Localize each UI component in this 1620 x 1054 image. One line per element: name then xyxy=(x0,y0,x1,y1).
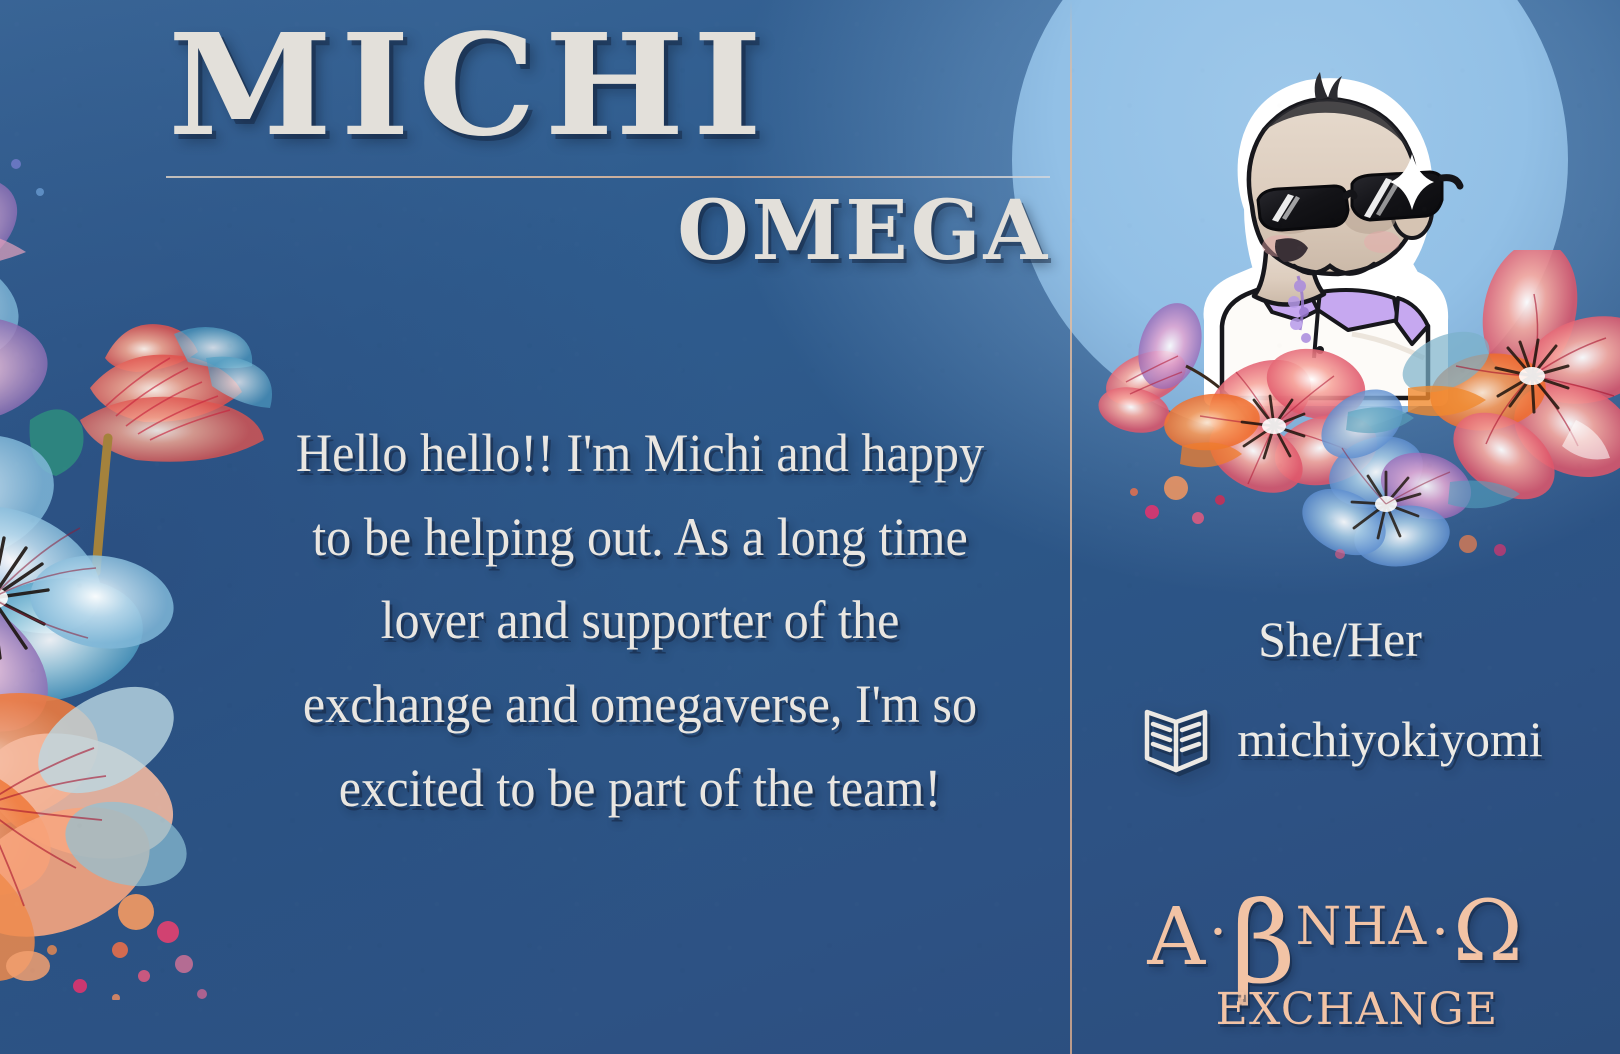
bio-text: Hello hello!! I'm Michi and happy to be … xyxy=(242,415,1038,833)
bio-line: excited to be part of the team! xyxy=(242,750,1038,827)
logo-omega: Ω xyxy=(1453,889,1523,973)
sloth-avatar xyxy=(1112,58,1464,398)
title-divider xyxy=(166,176,1050,178)
open-book-icon xyxy=(1137,700,1215,778)
bio-line: exchange and omegaverse, I'm so xyxy=(242,666,1038,743)
bio-line: Hello hello!! I'm Michi and happy xyxy=(242,415,1038,492)
bio-line: lover and supporter of the xyxy=(242,582,1038,659)
member-card: MICHI OMEGA Hello hello!! I'm Michi and … xyxy=(0,0,1620,1054)
logo-exchange-label: EXCHANGE xyxy=(1100,984,1570,1035)
role-subtitle: OMEGA xyxy=(168,190,1050,272)
logo-row: A · β NHA · Ω xyxy=(1100,892,1570,982)
pronouns-label: She/Her xyxy=(1080,610,1600,668)
column-divider xyxy=(1070,0,1072,1054)
logo-dot-left: · xyxy=(1209,905,1227,961)
handle-row[interactable]: michiyokiyomi xyxy=(1080,700,1600,778)
handle-label: michiyokiyomi xyxy=(1237,710,1543,768)
bio-line: to be helping out. As a long time xyxy=(242,499,1038,576)
logo-beta: β xyxy=(1231,900,1296,990)
logo-nha: NHA xyxy=(1296,901,1428,953)
logo-alpha: A xyxy=(1147,897,1205,977)
brand-logo: A · β NHA · Ω EXCHANGE xyxy=(1100,892,1570,1042)
page-title: MICHI xyxy=(168,16,770,156)
logo-dot-right: · xyxy=(1431,905,1449,961)
